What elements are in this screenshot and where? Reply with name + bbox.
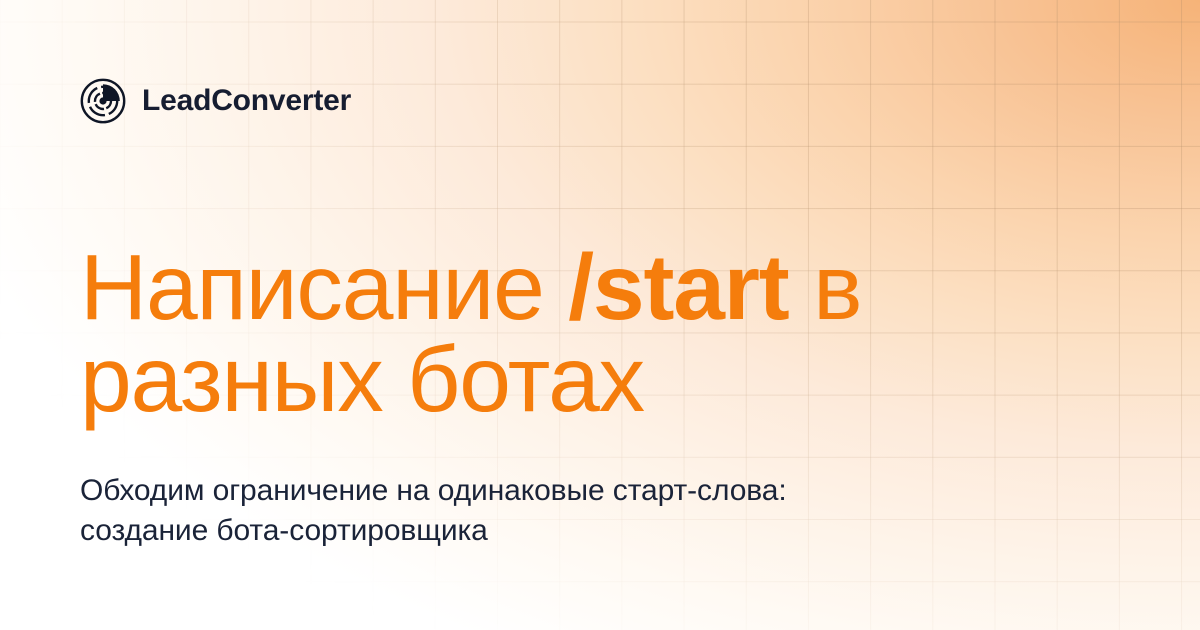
radar-target-icon xyxy=(80,78,126,124)
brand-name: LeadConverter xyxy=(142,86,351,116)
card-content: LeadConverter Написание /start в разных … xyxy=(0,0,1200,630)
headline-command: /start xyxy=(568,235,788,339)
brand-lockup[interactable]: LeadConverter xyxy=(80,78,351,124)
og-card: LeadConverter Написание /start в разных … xyxy=(0,0,1200,630)
headline-prefix: Написание xyxy=(80,235,568,339)
page-subtitle: Обходим ограничение на одинаковые старт-… xyxy=(80,471,880,551)
page-title: Написание /start в разных ботах xyxy=(80,241,1040,425)
